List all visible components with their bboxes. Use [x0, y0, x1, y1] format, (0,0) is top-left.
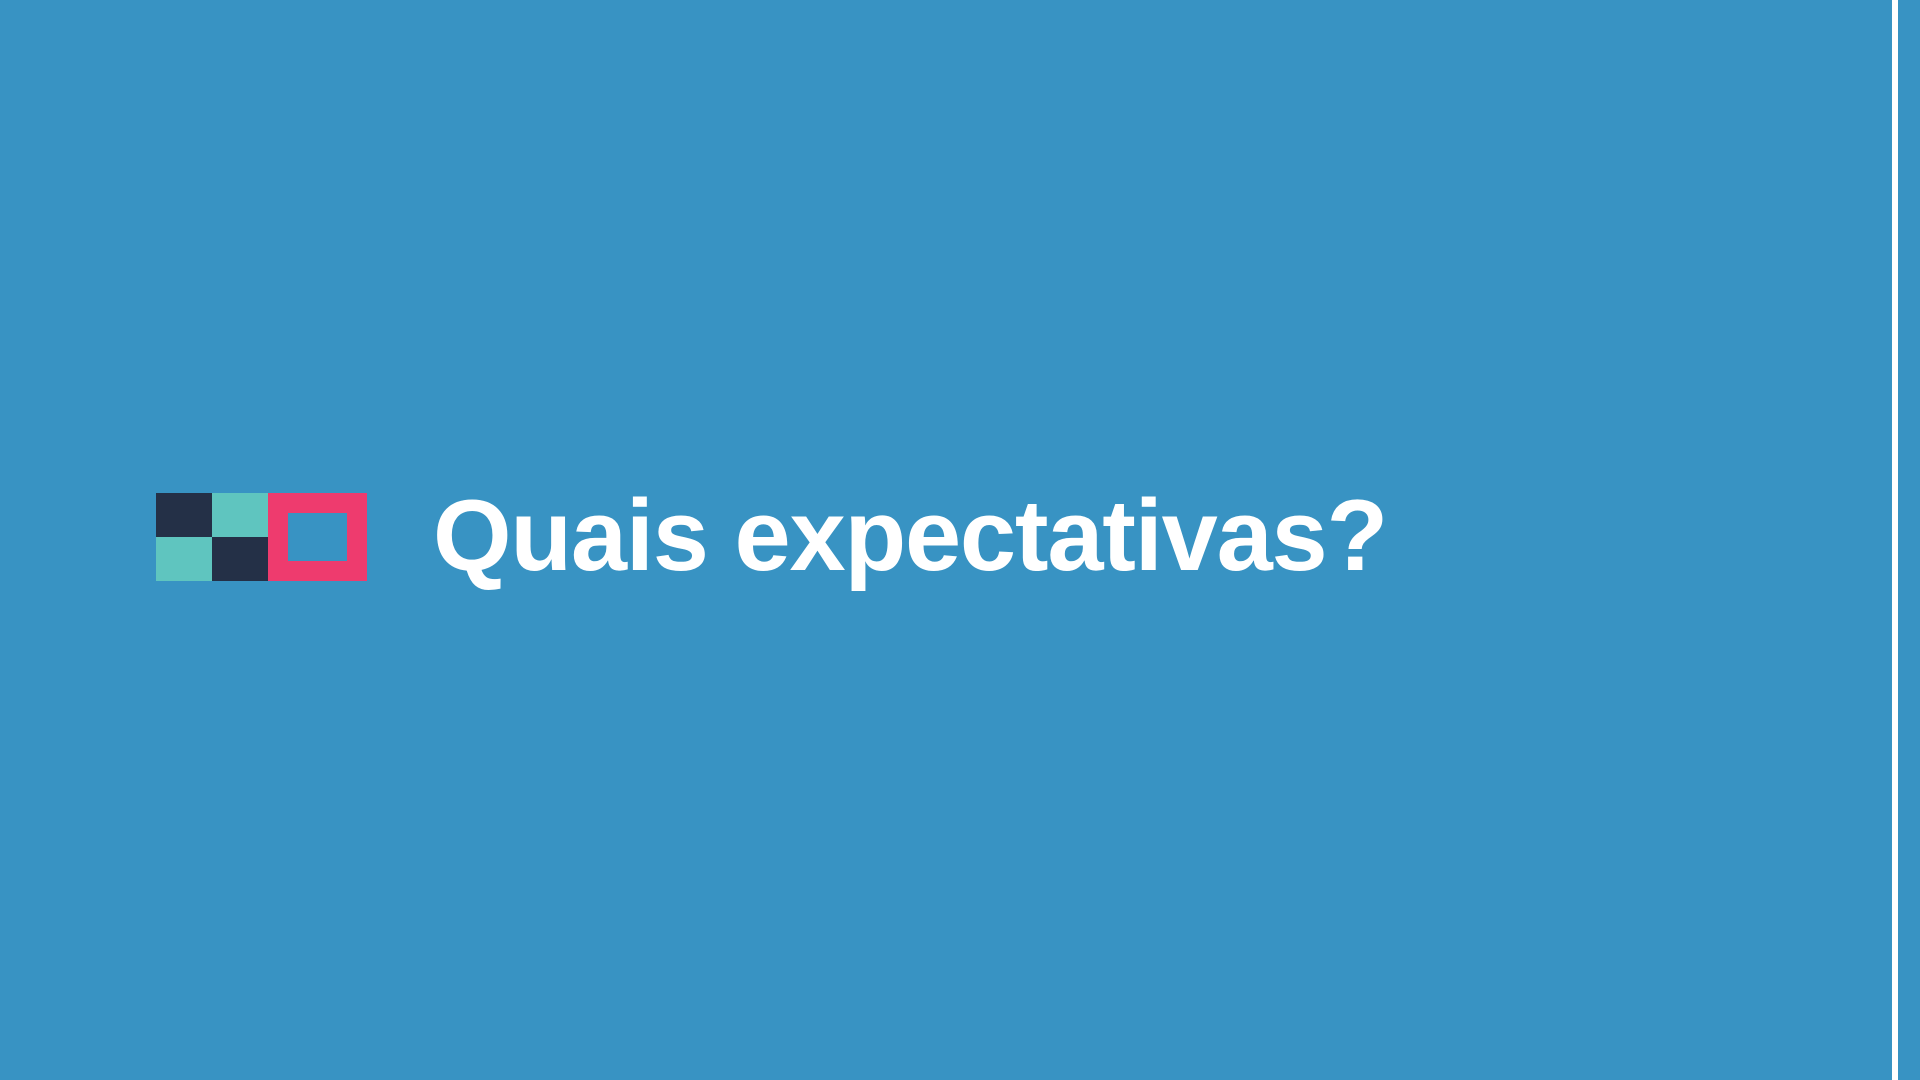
logo-cell-bottom-right — [212, 537, 268, 581]
title-block: Quais expectativas? — [156, 484, 1387, 589]
slide-canvas: Quais expectativas? — [0, 0, 1920, 1080]
brand-logo-icon — [156, 493, 367, 581]
logo-square-hole — [288, 513, 347, 561]
logo-checker-grid — [156, 493, 268, 581]
logo-hollow-pink-square — [268, 493, 367, 581]
page-title: Quais expectativas? — [433, 484, 1387, 589]
right-edge-blue-band — [1898, 0, 1920, 1080]
logo-cell-bottom-left — [156, 537, 212, 581]
logo-cell-top-left — [156, 493, 212, 537]
logo-cell-top-right — [212, 493, 268, 537]
